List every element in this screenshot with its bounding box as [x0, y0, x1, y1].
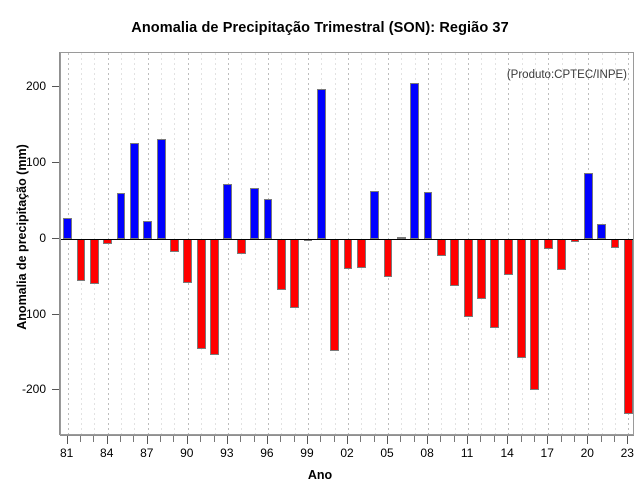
bar-2010	[450, 239, 459, 286]
bar-2001	[330, 239, 339, 351]
bar-1986	[130, 143, 139, 239]
x-tick-mark-2006	[400, 436, 401, 442]
x-tick-mark-1987	[147, 436, 148, 444]
bar-1987	[143, 221, 152, 238]
x-tick-mark-2012	[480, 436, 481, 442]
x-tick-label-1981: 81	[60, 446, 73, 460]
x-tick-mark-2007	[414, 436, 415, 442]
x-tick-mark-1991	[200, 436, 201, 442]
x-tick-label-2008: 08	[420, 446, 433, 460]
bar-2002	[344, 239, 353, 269]
bar-1991	[197, 239, 206, 349]
bar-2009	[437, 239, 446, 256]
x-tick-mark-1981	[67, 436, 68, 444]
x-tick-mark-1997	[280, 436, 281, 442]
x-tick-label-1993: 93	[220, 446, 233, 460]
x-tick-mark-1992	[214, 436, 215, 442]
x-tick-mark-1983	[93, 436, 94, 442]
bar-1985	[117, 193, 126, 239]
bar-2021	[597, 224, 606, 238]
bar-2012	[477, 239, 486, 300]
x-tick-mark-1989	[173, 436, 174, 442]
x-tick-mark-2003	[360, 436, 361, 442]
zero-baseline	[61, 239, 633, 240]
x-tick-mark-1988	[160, 436, 161, 442]
x-tick-mark-1995	[254, 436, 255, 442]
y-tick-mark-200	[52, 86, 59, 87]
bar-1981	[63, 218, 72, 239]
bar-1982	[77, 239, 86, 281]
x-tick-mark-2018	[561, 436, 562, 442]
x-tick-mark-1998	[294, 436, 295, 442]
x-tick-mark-2019	[574, 436, 575, 442]
bar-2017	[544, 239, 553, 249]
bar-1992	[210, 239, 219, 355]
x-tick-mark-1986	[133, 436, 134, 442]
x-tick-mark-2008	[427, 436, 428, 444]
x-tick-mark-2004	[374, 436, 375, 442]
x-tick-mark-1993	[227, 436, 228, 444]
bar-1990	[183, 239, 192, 283]
x-tick-label-2014: 14	[500, 446, 513, 460]
x-tick-mark-1982	[80, 436, 81, 442]
plot-area: (Produto:CPTEC/INPE)	[60, 52, 634, 435]
x-tick-label-2020: 20	[581, 446, 594, 460]
x-tick-mark-2001	[334, 436, 335, 442]
bar-2018	[557, 239, 566, 270]
bar-1988	[157, 139, 166, 239]
bar-2015	[517, 239, 526, 358]
x-tick-label-1990: 90	[180, 446, 193, 460]
y-tick-mark--100	[52, 314, 59, 315]
bar-1997	[277, 239, 286, 291]
y-tick-label-0: 0	[39, 231, 46, 245]
x-tick-mark-1985	[120, 436, 121, 442]
x-tick-mark-2023	[627, 436, 628, 444]
bar-2011	[464, 239, 473, 317]
bar-1983	[90, 239, 99, 285]
bar-2000	[317, 89, 326, 238]
chart-title: Anomalia de Precipitação Trimestral (SON…	[0, 20, 640, 36]
x-tick-mark-2013	[494, 436, 495, 442]
x-tick-mark-2000	[320, 436, 321, 442]
bar-1994	[237, 239, 246, 254]
x-tick-mark-2022	[614, 436, 615, 442]
y-tick-mark--200	[52, 389, 59, 390]
bar-2008	[424, 192, 433, 239]
precipitation-anomaly-chart: Anomalia de Precipitação Trimestral (SON…	[0, 0, 640, 500]
x-tick-label-1984: 84	[100, 446, 113, 460]
bar-2007	[410, 83, 419, 239]
bar-2022	[611, 239, 620, 248]
y-tick-mark-100	[52, 162, 59, 163]
x-tick-label-1987: 87	[140, 446, 153, 460]
x-tick-mark-1990	[187, 436, 188, 444]
x-tick-label-2011: 11	[461, 446, 473, 460]
x-tick-mark-2016	[534, 436, 535, 442]
x-tick-mark-2017	[547, 436, 548, 444]
x-tick-mark-1996	[267, 436, 268, 444]
y-tick-mark-0	[52, 238, 59, 239]
x-tick-label-2017: 17	[541, 446, 554, 460]
x-tick-mark-2015	[521, 436, 522, 442]
source-annotation: (Produto:CPTEC/INPE)	[507, 69, 627, 81]
x-tick-mark-2021	[601, 436, 602, 442]
bar-2013	[490, 239, 499, 328]
x-tick-mark-1994	[240, 436, 241, 442]
x-tick-label-2005: 05	[380, 446, 393, 460]
bar-2023	[624, 239, 633, 414]
x-tick-mark-1984	[107, 436, 108, 444]
x-tick-label-1996: 96	[260, 446, 273, 460]
x-axis-title: Ano	[0, 468, 640, 482]
bar-1995	[250, 188, 259, 239]
x-tick-mark-1999	[307, 436, 308, 444]
bar-2016	[530, 239, 539, 390]
bars-layer	[61, 53, 633, 434]
bar-1996	[264, 199, 273, 238]
x-tick-mark-2014	[507, 436, 508, 444]
bar-2003	[357, 239, 366, 268]
x-tick-mark-2020	[587, 436, 588, 444]
y-axis-title: Anomalia de precipitação (mm)	[15, 87, 29, 387]
bar-2020	[584, 173, 593, 239]
x-axis: 818487909396990205081114172023	[60, 435, 634, 465]
x-tick-mark-2010	[454, 436, 455, 442]
y-axis: 2001000-100-200 Anomalia de precipitação…	[0, 52, 60, 435]
x-tick-label-2023: 23	[621, 446, 634, 460]
bar-2005	[384, 239, 393, 278]
bar-2004	[370, 191, 379, 239]
bar-1989	[170, 239, 179, 253]
x-tick-label-1999: 99	[300, 446, 313, 460]
bar-1998	[290, 239, 299, 308]
bar-2014	[504, 239, 513, 275]
x-tick-label-2002: 02	[340, 446, 353, 460]
x-tick-mark-2009	[440, 436, 441, 442]
bar-1993	[223, 184, 232, 239]
x-tick-mark-2002	[347, 436, 348, 444]
x-tick-mark-2005	[387, 436, 388, 444]
x-tick-mark-2011	[467, 436, 468, 444]
